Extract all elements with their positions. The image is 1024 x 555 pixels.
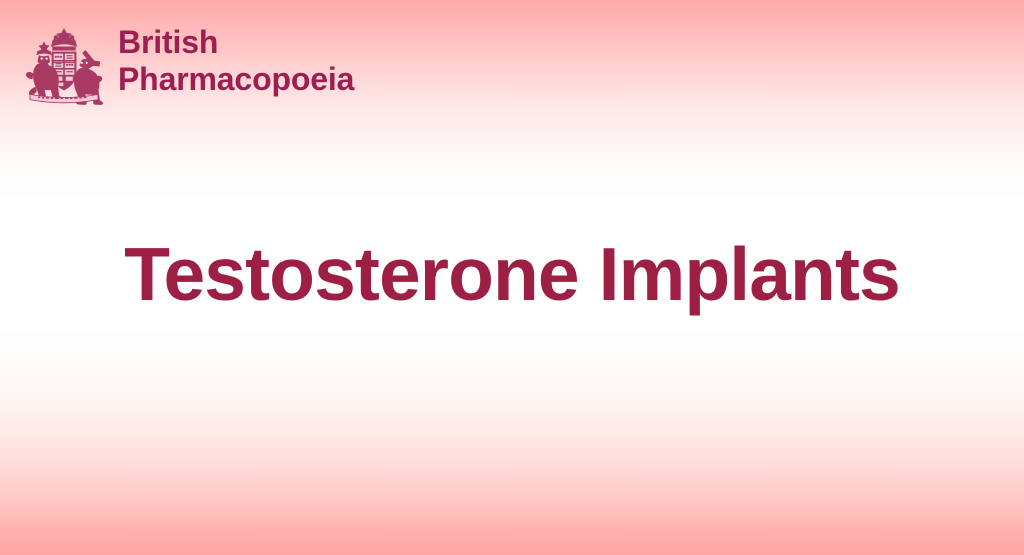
royal-coat-of-arms-icon: [22, 24, 106, 106]
title-card: British Pharmacopoeia Testosterone Impla…: [0, 0, 1024, 555]
brand-name-line-2: Pharmacopoeia: [118, 63, 354, 96]
brand-name-line-1: British: [118, 26, 354, 59]
brand-lockup: British Pharmacopoeia: [22, 24, 354, 106]
page-title: Testosterone Implants: [124, 231, 900, 317]
brand-wordmark: British Pharmacopoeia: [118, 24, 354, 95]
